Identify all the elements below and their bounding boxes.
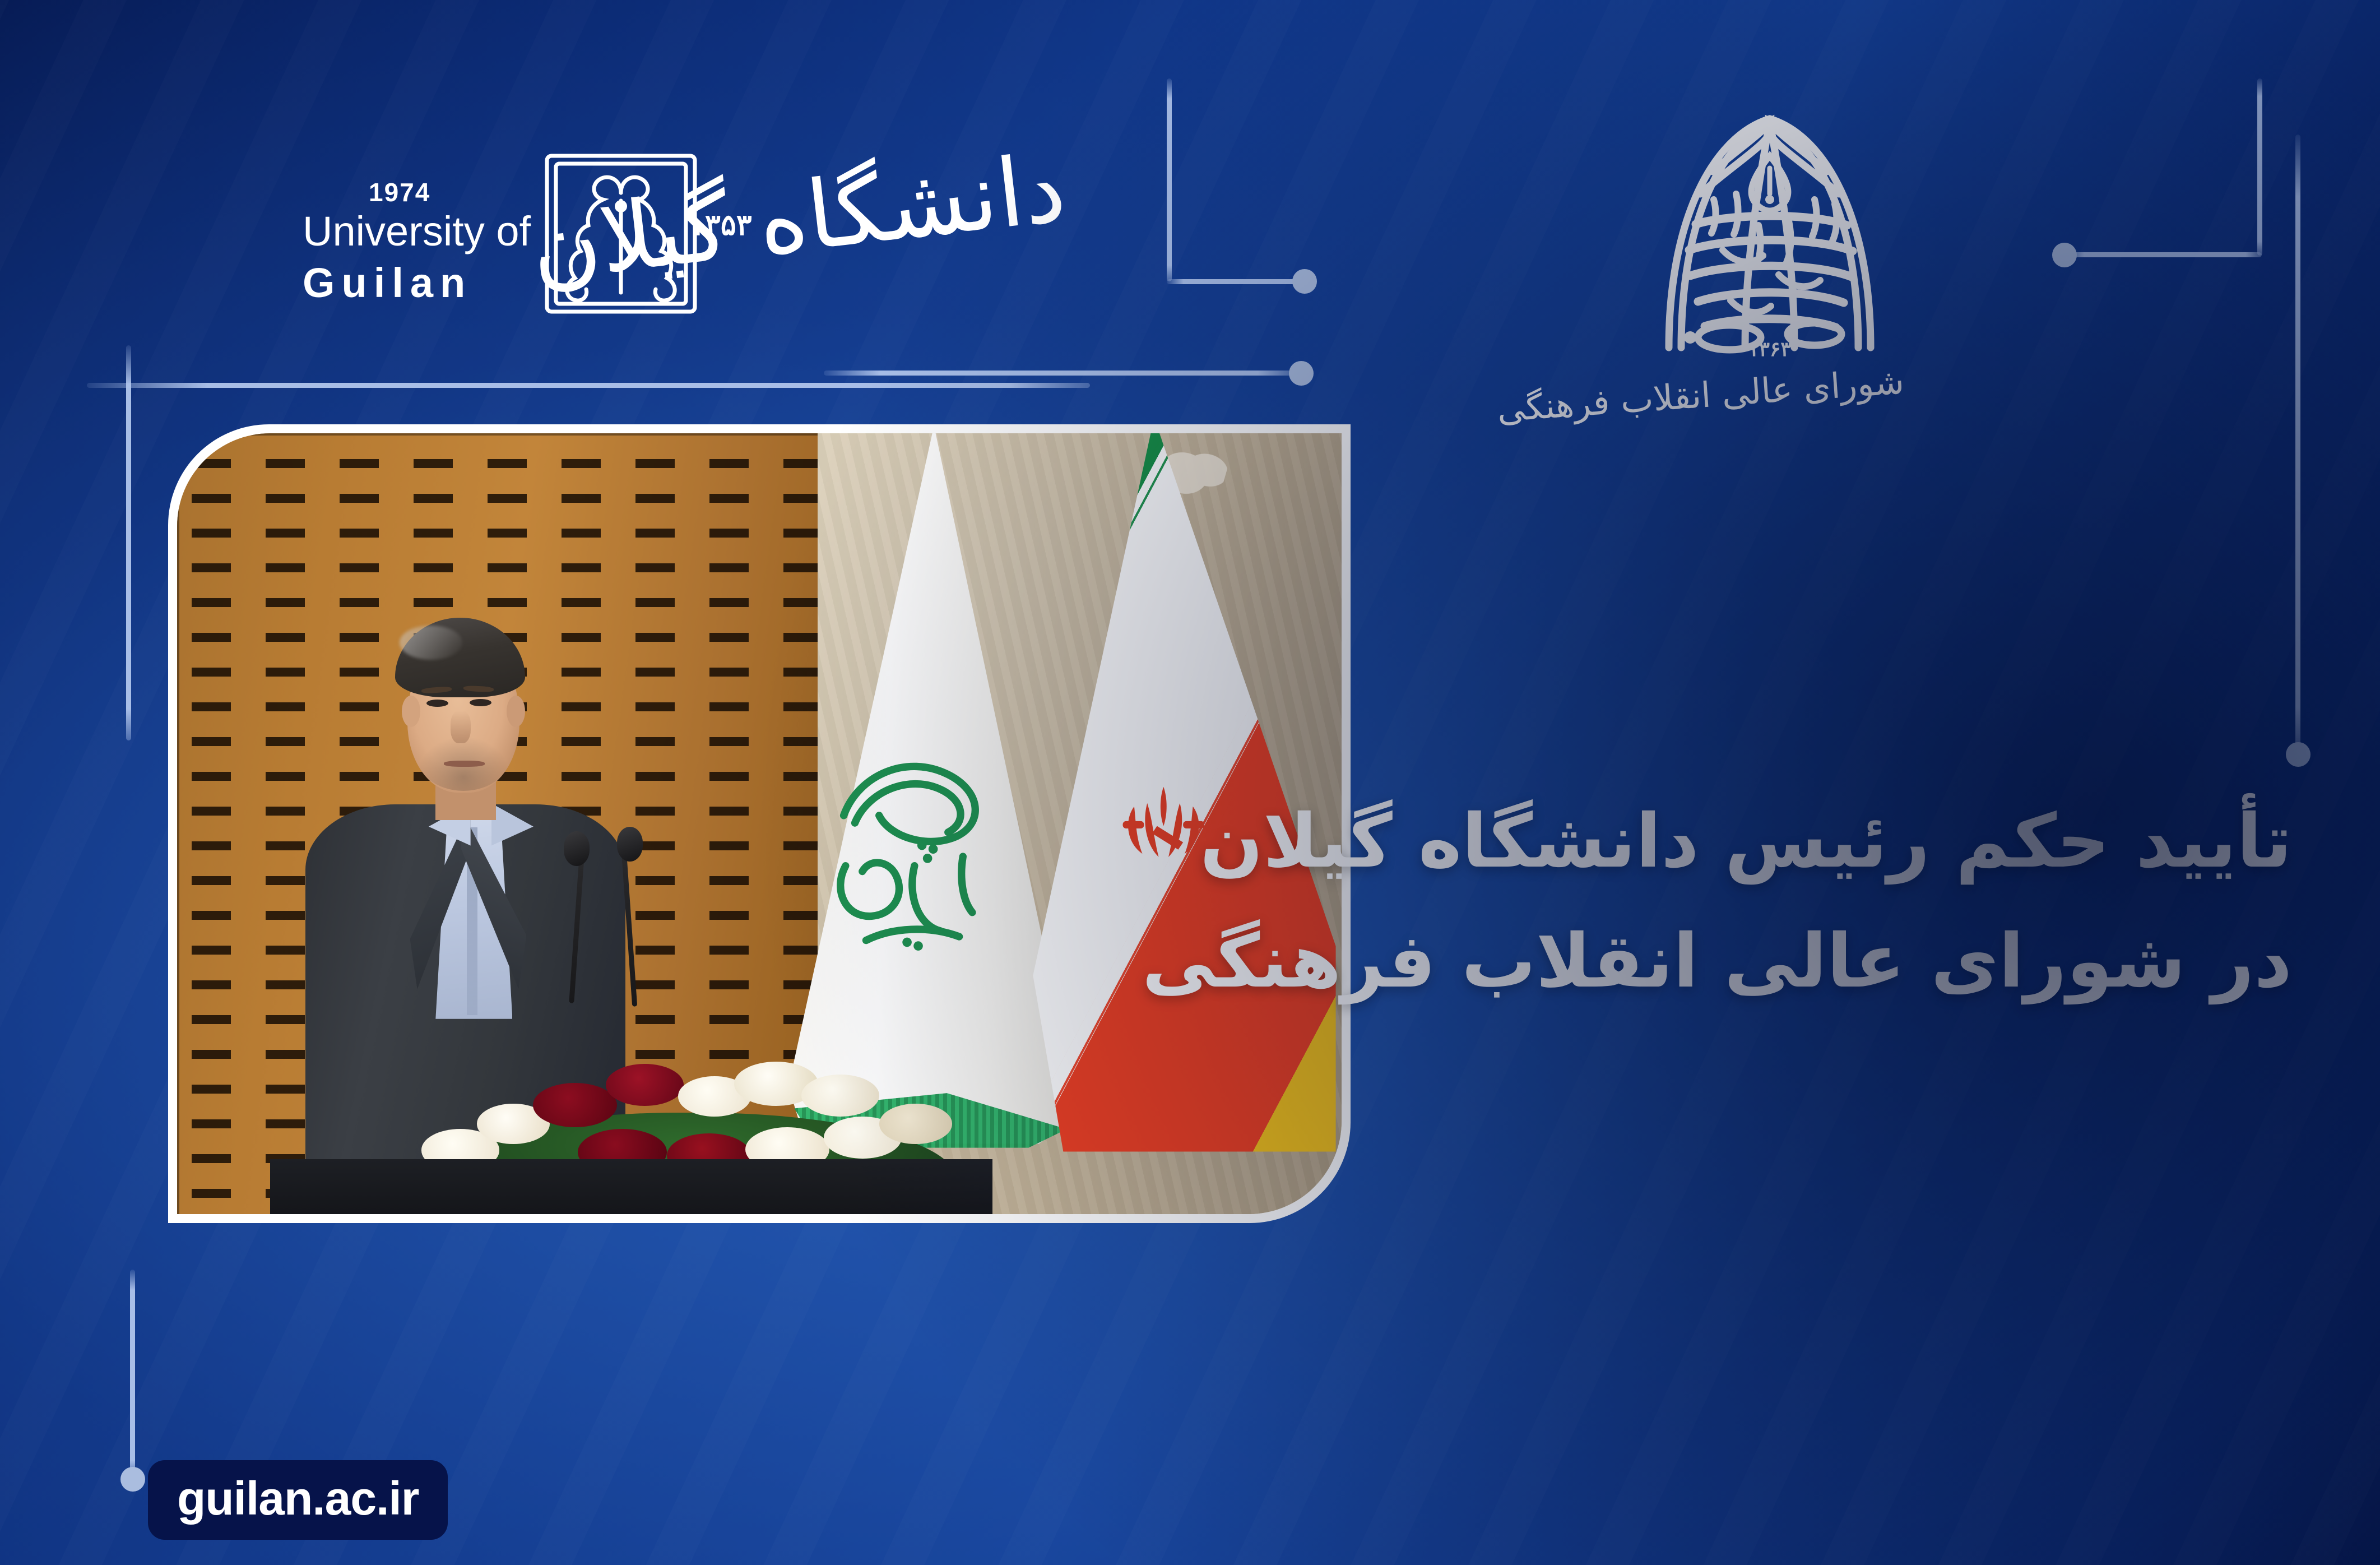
deco-dot-3-icon [2052, 243, 2077, 267]
speaker-mouth [444, 761, 485, 767]
headline-line-2: در شورای عالی انقلاب فرهنگی [1362, 902, 2292, 1022]
deco-right-l-vertical-icon [2257, 78, 2262, 256]
ug-latin-block: 1974 University of Guilan [303, 179, 538, 304]
deco-line-upper-icon [824, 371, 1296, 376]
speaker-eye-right [470, 699, 491, 706]
page-title: تأیید حکم رئیس دانشگاه گیلان در شورای عا… [1362, 782, 2292, 1022]
deco-cross-vertical-icon [126, 345, 131, 740]
website-url-badge[interactable]: guilan.ac.ir [148, 1460, 448, 1540]
speaker-ear-right [507, 696, 525, 727]
speaker-ear-left [402, 696, 420, 727]
deco-dot-5-icon [120, 1467, 145, 1492]
deco-l-horizontal-icon [1167, 279, 1306, 284]
deco-dot-4-icon [2286, 742, 2311, 767]
iran-emblem-icon [1115, 777, 1213, 878]
supreme-council-cultural-revolution-logo: ۱۳۶۳ شورای عالی انقلاب فرهنگی [1646, 84, 1893, 476]
microphone-head-1 [564, 831, 590, 866]
ug-university-of-label: University of [303, 210, 538, 253]
university-of-guilan-logo: 1974 University of Guilan ۱۳۵۳ دانشگاه گ… [303, 163, 1065, 325]
ug-year-gregorian: 1974 [369, 179, 538, 205]
sccr-dome-icon [1646, 84, 1893, 381]
deco-l-vertical-icon [1167, 78, 1172, 281]
poster-canvas: 1974 University of Guilan ۱۳۵۳ دانشگاه گ… [0, 0, 2380, 1565]
ug-guilan-label: Guilan [303, 261, 538, 305]
photo-inner [177, 433, 1342, 1214]
deco-bottom-left-vertical-icon [130, 1270, 135, 1477]
deco-right-l-horizontal-icon [2060, 252, 2262, 257]
headline-line-1: تأیید حکم رئیس دانشگاه گیلان [1362, 782, 2292, 902]
deco-dot-2-icon [1289, 361, 1314, 386]
sccr-year-persian: ۱۳۶۳ [1646, 337, 1893, 361]
deco-cross-horizontal-icon [87, 383, 1090, 388]
podium [270, 1159, 992, 1214]
press-conference-photo [168, 424, 1351, 1223]
deco-dot-1-icon [1292, 269, 1317, 294]
speaker-hair-highlight [400, 626, 462, 660]
university-flag-calligraphy-icon [818, 668, 1004, 1027]
microphone-head-2 [617, 827, 643, 862]
deco-right-vertical-long-icon [2295, 135, 2300, 757]
